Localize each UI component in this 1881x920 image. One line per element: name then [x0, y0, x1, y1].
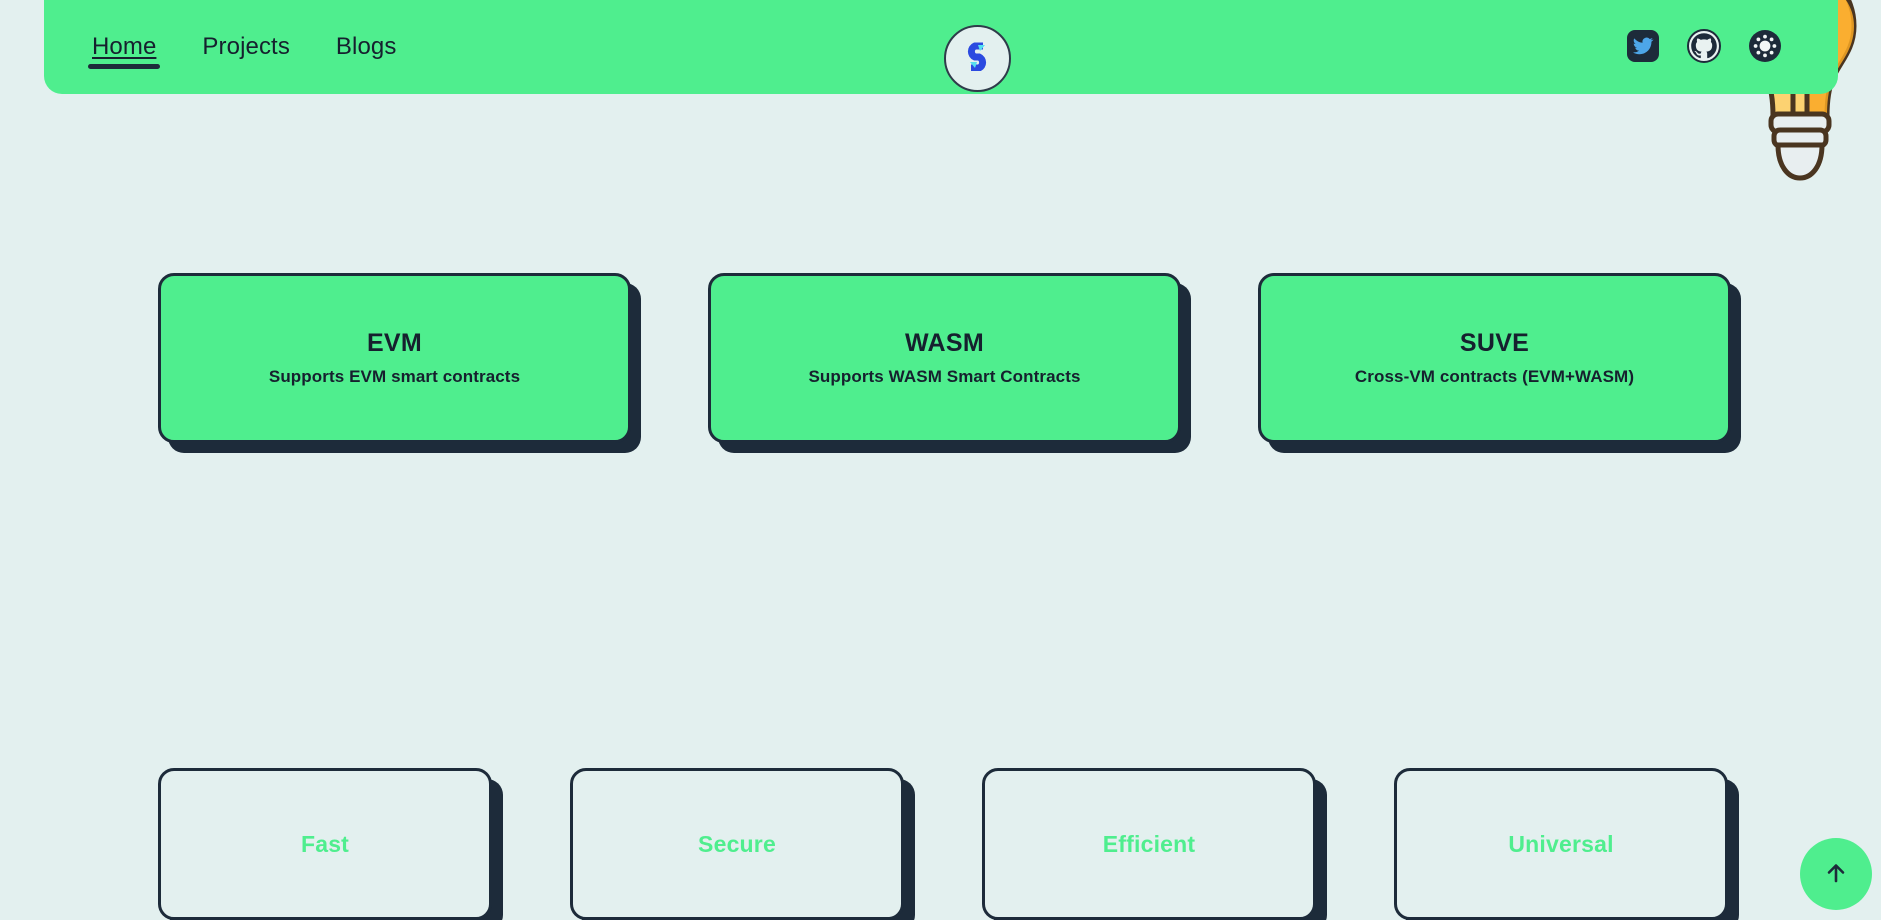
site-logo-button[interactable]: [944, 25, 1011, 92]
sun-icon: [1748, 29, 1782, 66]
theme-toggle-button[interactable]: [1748, 30, 1782, 64]
vm-card-title: SUVE: [1460, 329, 1529, 358]
feature-card-universal[interactable]: Universal: [1394, 768, 1728, 920]
github-link[interactable]: [1687, 30, 1721, 64]
arrow-up-icon: [1821, 858, 1851, 891]
feature-card-label: Fast: [301, 831, 349, 858]
main-navbar: Home Projects Blogs: [44, 0, 1838, 94]
nav-social-group: [1626, 0, 1782, 94]
feature-card-label: Secure: [698, 831, 776, 858]
vm-card-title: WASM: [905, 329, 984, 358]
vm-cards-row: EVM Supports EVM smart contracts WASM Su…: [0, 273, 1881, 453]
vm-card-subtitle: Supports EVM smart contracts: [269, 367, 520, 387]
nav-link-blogs[interactable]: Blogs: [328, 33, 405, 61]
nav-links-group: Home Projects Blogs: [84, 0, 404, 94]
twitter-icon: [1626, 29, 1660, 66]
feature-card-label: Efficient: [1103, 831, 1196, 858]
feature-card-secure[interactable]: Secure: [570, 768, 904, 920]
vm-card-subtitle: Cross-VM contracts (EVM+WASM): [1355, 367, 1634, 387]
twitter-link[interactable]: [1626, 30, 1660, 64]
github-icon: [1687, 29, 1721, 66]
vm-card-suve[interactable]: SUVE Cross-VM contracts (EVM+WASM): [1258, 273, 1731, 443]
vm-card-evm[interactable]: EVM Supports EVM smart contracts: [158, 273, 631, 443]
vm-card-subtitle: Supports WASM Smart Contracts: [808, 367, 1080, 387]
nav-link-projects[interactable]: Projects: [194, 33, 298, 61]
s-logo-icon: [963, 41, 993, 76]
vm-card-wasm[interactable]: WASM Supports WASM Smart Contracts: [708, 273, 1181, 443]
feature-card-fast[interactable]: Fast: [158, 768, 492, 920]
feature-card-label: Universal: [1508, 831, 1613, 858]
scroll-to-top-button[interactable]: [1800, 838, 1872, 910]
nav-link-home[interactable]: Home: [84, 33, 164, 61]
feature-cards-row: Fast Secure Efficient Universal: [0, 768, 1881, 920]
vm-card-title: EVM: [367, 329, 422, 358]
feature-card-efficient[interactable]: Efficient: [982, 768, 1316, 920]
